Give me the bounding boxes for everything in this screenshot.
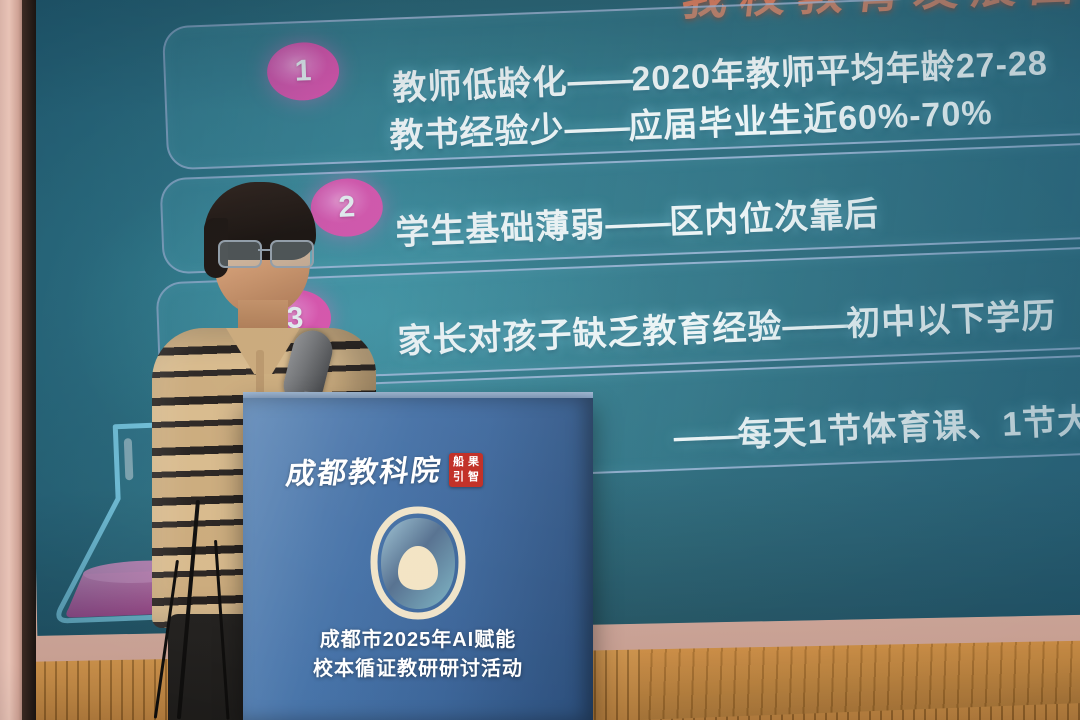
podium-caption: 成都市2025年AI赋能 校本循证教研研讨活动 [243,626,593,684]
podium: 成都教科院 船 果 引 智 成都市2025年AI赋能 校本循证教研研 [243,398,593,720]
seal-char-tl: 船 [453,457,464,468]
glasses-lens-right [270,240,314,268]
podium-brand: 成都教科院 船 果 引 智 [287,448,557,492]
podium-caption-line1: 成都市2025年AI赋能 [243,626,593,655]
slide-line-1a-dash: —— [567,61,632,102]
podium-caption-line2: 校本循证教研研讨活动 [243,655,593,684]
seal-char-br: 智 [468,472,479,483]
slide-line-2-detail: 区内位次靠后 [669,195,880,241]
slide-line-1a-label: 教师低龄化 [392,63,568,108]
glasses-icon [218,240,312,266]
glasses-bridge [258,249,270,251]
glasses-lens-left [218,240,262,268]
institute-logo-icon [368,504,468,622]
screenshot-root: 我校教育发展面 1 2 3 4 教师低龄化——2020年教师平均年龄27-28 … [0,0,1080,720]
slide-line-2-label: 学生基础薄弱 [395,206,606,252]
left-wall-shadow [22,0,36,720]
seal-char-tr: 果 [468,457,479,468]
slide-line-2-dash: —— [605,204,670,245]
red-seal-icon: 船 果 引 智 [449,453,483,487]
slide-line-1b-label: 教书经验少 [389,111,565,156]
seal-char-bl: 引 [453,472,464,483]
slide-line-3-detail: 初中以下学历 [846,297,1057,343]
podium-brand-text: 成都教科院 [284,447,446,493]
slide-line-3-dash: —— [782,305,847,346]
slide-line-4-dash: —— [673,416,738,457]
slide-line-1b-dash: —— [564,108,629,149]
